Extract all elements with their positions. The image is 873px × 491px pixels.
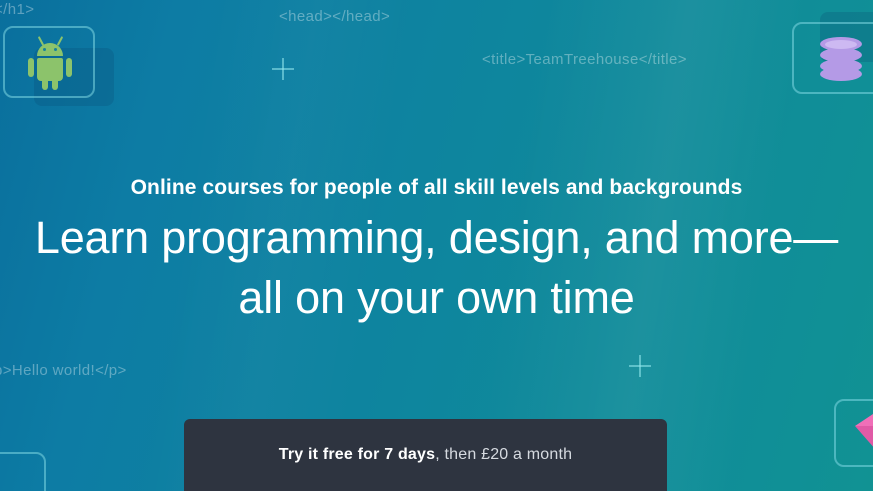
hero-banner: </h1> <head></head> <title>TeamTreehouse…: [0, 0, 873, 491]
code-snippet-title: <title>TeamTreehouse</title>: [482, 51, 687, 68]
android-body: [37, 58, 63, 81]
hero-copy: Online courses for people of all skill l…: [0, 174, 873, 328]
gem-facet-bottom: [855, 426, 873, 450]
android-arm-right: [66, 58, 72, 77]
database-icon: [820, 37, 862, 81]
android-leg-right: [52, 79, 58, 90]
promo-text: Try it free for 7 days, then £20 a month: [279, 446, 573, 464]
code-snippet-head: <head></head>: [279, 8, 390, 25]
gem-facet-top: [855, 412, 873, 426]
hero-eyebrow: Online courses for people of all skill l…: [0, 174, 873, 202]
plus-icon: [629, 355, 651, 377]
page-title: Learn programming, design, and more—all …: [0, 208, 873, 328]
database-top: [825, 40, 857, 49]
android-antenna-right: [57, 36, 63, 46]
promo-lead: Try it free for 7 days: [279, 446, 435, 463]
promo-rest: , then £20 a month: [435, 446, 572, 463]
android-icon: [26, 35, 74, 89]
android-head: [37, 43, 63, 56]
android-leg-left: [42, 79, 48, 90]
promo-banner[interactable]: Try it free for 7 days, then £20 a month: [184, 419, 667, 491]
android-arm-left: [28, 58, 34, 77]
android-eye-right: [54, 48, 57, 51]
plus-icon: [272, 58, 294, 80]
gem-icon: [855, 412, 873, 452]
code-snippet-hello-world: p>Hello world!</p>: [0, 362, 127, 379]
android-eye-left: [43, 48, 46, 51]
corner-outline-card: [0, 452, 46, 491]
code-snippet-h1: </h1>: [0, 1, 34, 18]
